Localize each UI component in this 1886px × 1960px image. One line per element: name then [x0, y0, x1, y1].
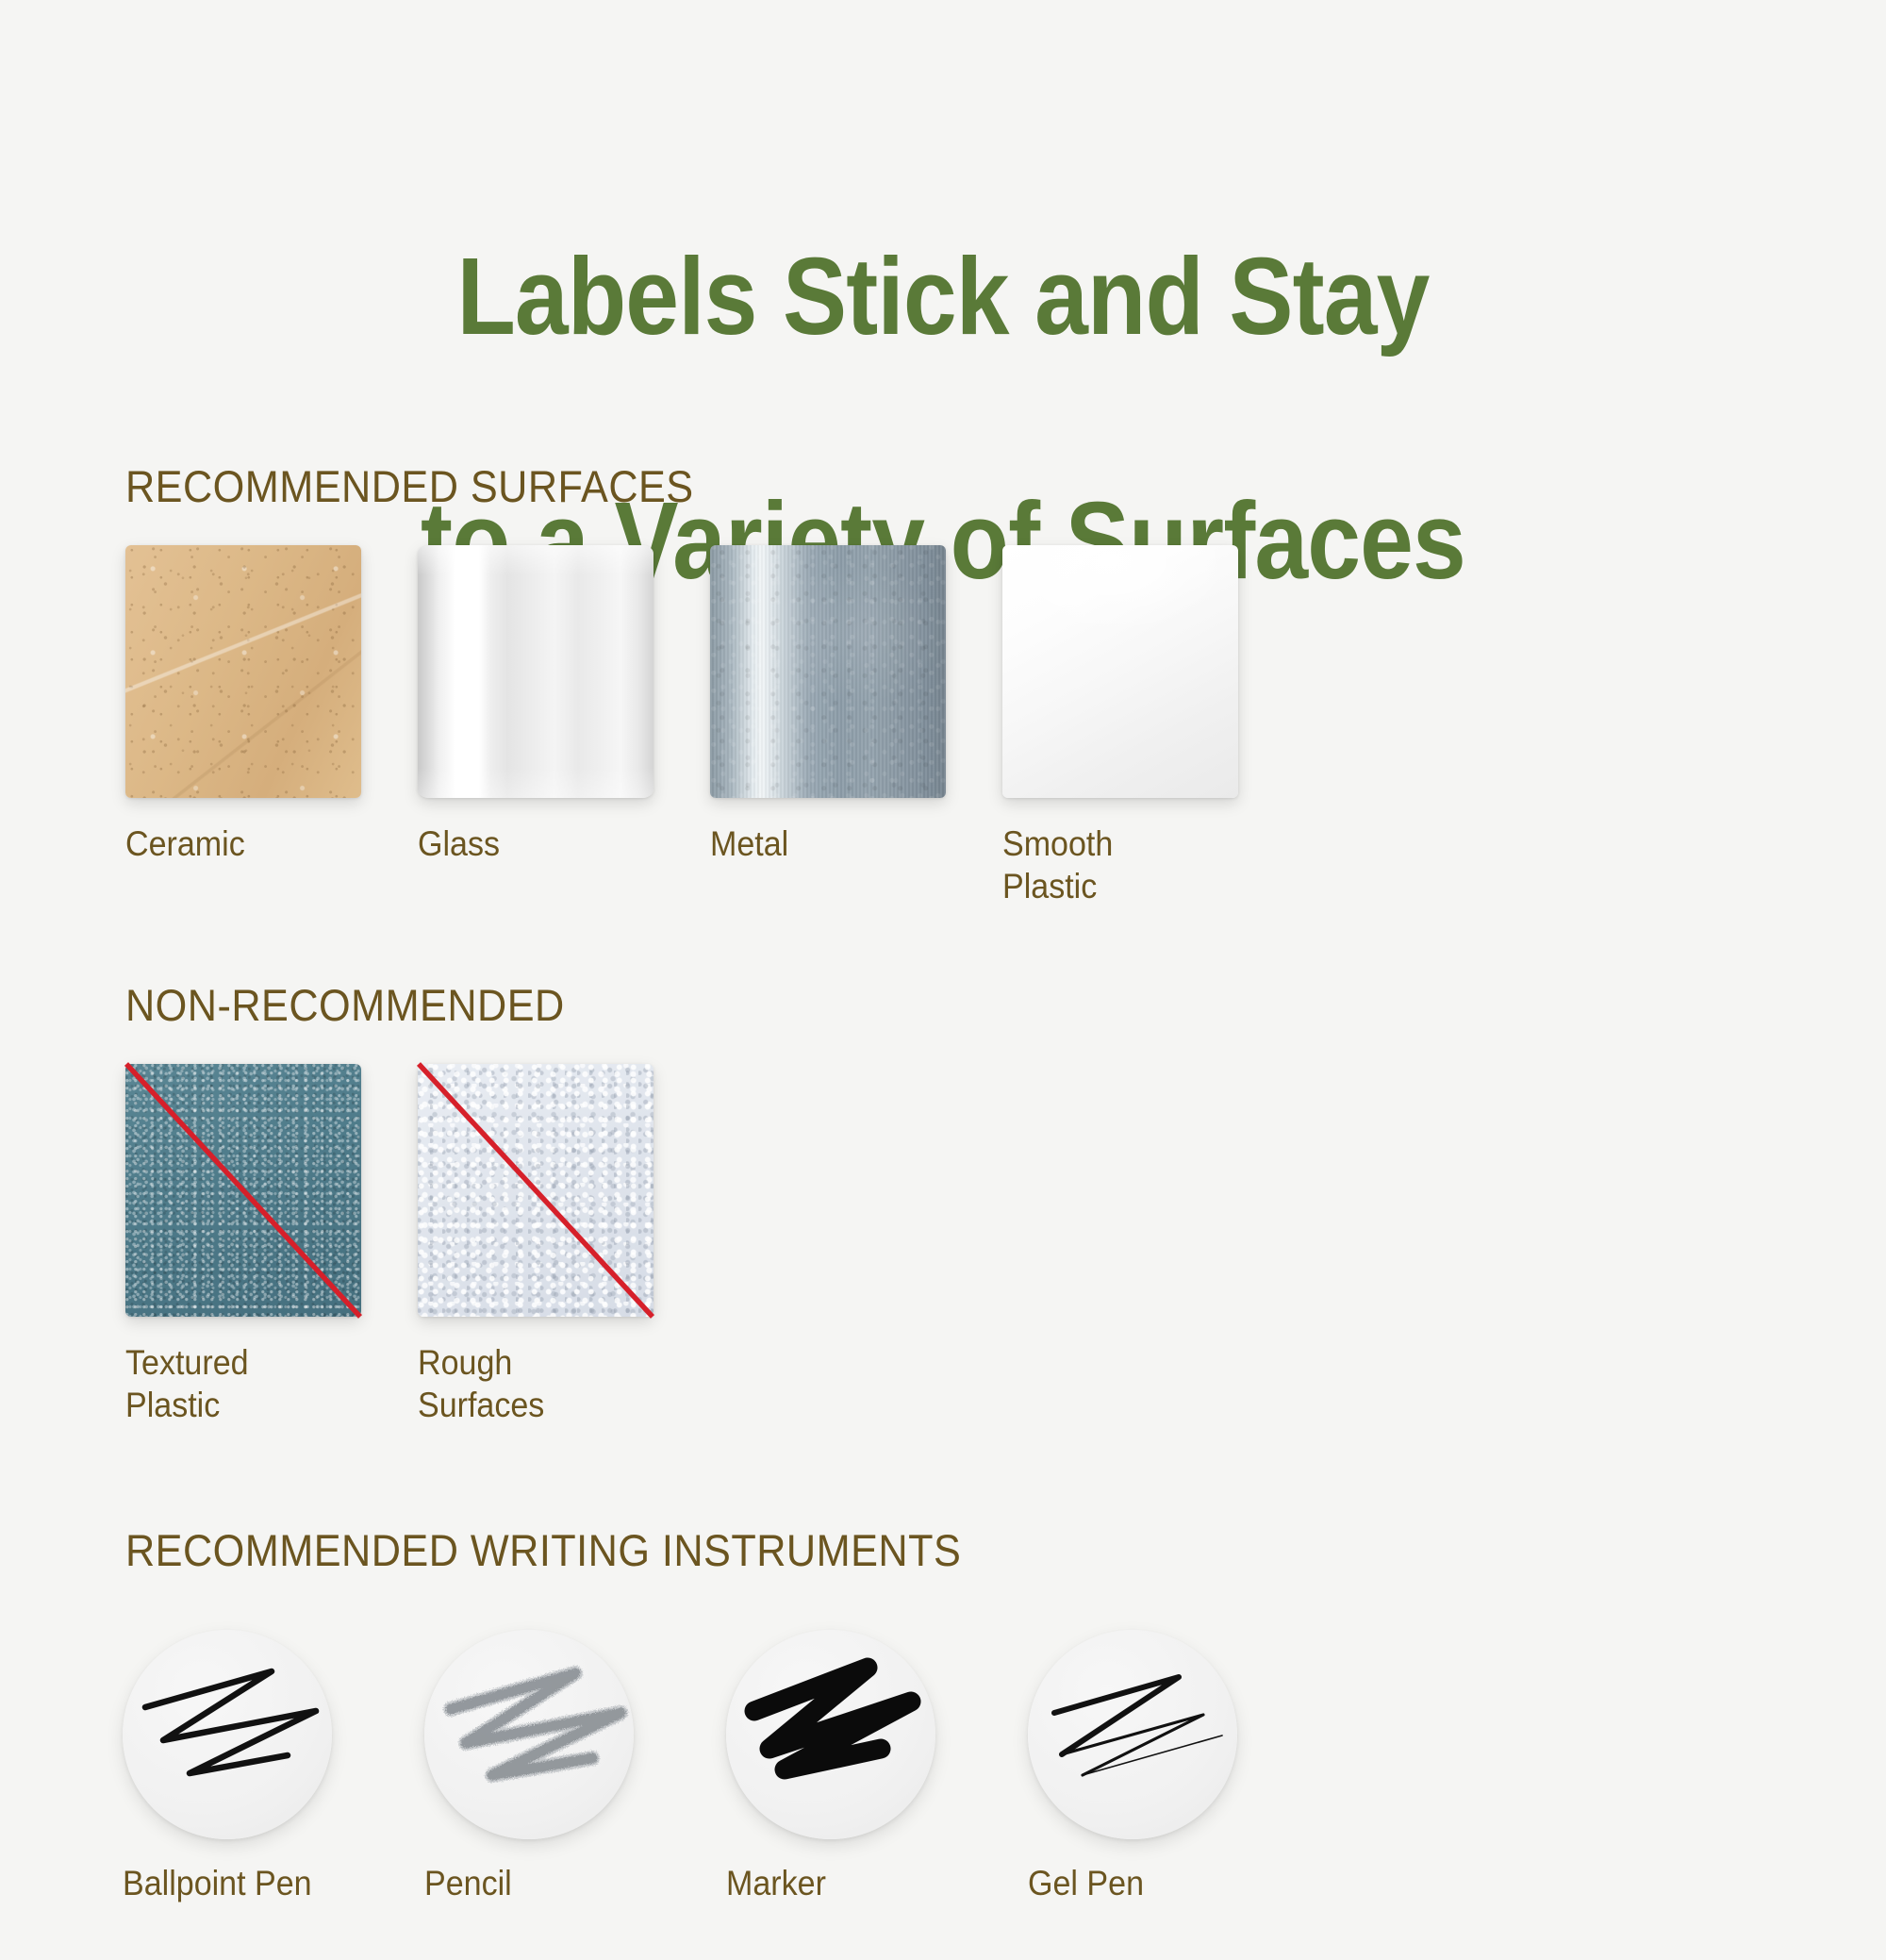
ceramic-swatch — [125, 545, 361, 798]
section-heading-recommended-surfaces: RECOMMENDED SURFACES — [125, 460, 694, 512]
section-heading-non-recommended: NON-RECOMMENDED — [125, 979, 565, 1031]
surface-item-ceramic: Ceramic — [125, 545, 418, 865]
gel-pen-swatch — [1028, 1630, 1237, 1839]
page-title-line-1: Labels Stick and Stay — [113, 236, 1773, 358]
ballpoint-scribble-icon — [123, 1630, 332, 1839]
writing-instrument-label-ballpoint-pen: Ballpoint Pen — [123, 1862, 400, 1904]
writing-instrument-gel-pen: Gel Pen — [1028, 1630, 1330, 1904]
surface-label-textured-plastic: Textured Plastic — [125, 1341, 394, 1426]
writing-instrument-pencil: Pencil — [424, 1630, 726, 1904]
writing-instrument-ballpoint-pen: Ballpoint Pen — [123, 1630, 424, 1904]
surface-item-glass: Glass — [418, 545, 710, 865]
surface-item-metal: Metal — [710, 545, 1002, 865]
surface-label-glass: Glass — [418, 822, 687, 865]
metal-swatch — [710, 545, 946, 798]
writing-instrument-marker: Marker — [726, 1630, 1028, 1904]
surface-item-smooth-plastic: Smooth Plastic — [1002, 545, 1295, 907]
marker-swatch — [726, 1630, 935, 1839]
surface-label-smooth-plastic: Smooth Plastic — [1002, 822, 1271, 907]
recommended-surfaces-row: Ceramic Glass Metal Smooth Plastic — [125, 545, 1295, 907]
section-heading-recommended-writing-instruments: RECOMMENDED WRITING INSTRUMENTS — [125, 1524, 961, 1576]
surface-label-rough-surfaces: Rough Surfaces — [418, 1341, 687, 1426]
surface-item-textured-plastic: Textured Plastic — [125, 1064, 418, 1426]
writing-instrument-label-gel-pen: Gel Pen — [1028, 1862, 1305, 1904]
surface-label-metal: Metal — [710, 822, 979, 865]
ballpoint-pen-swatch — [123, 1630, 332, 1839]
pencil-swatch — [424, 1630, 634, 1839]
infographic-page: Labels Stick and Stay to a Variety of Su… — [0, 74, 1886, 1960]
pencil-scribble-icon — [424, 1630, 634, 1839]
marker-scribble-icon — [726, 1630, 935, 1839]
writing-instrument-label-pencil: Pencil — [424, 1862, 702, 1904]
rough-surfaces-swatch — [418, 1064, 653, 1317]
non-recommended-row: Textured Plastic Rough Surfaces — [125, 1064, 710, 1426]
writing-instruments-row: Ballpoint Pen — [123, 1630, 1330, 1904]
writing-instrument-label-marker: Marker — [726, 1862, 1003, 1904]
gel-pen-scribble-icon — [1028, 1630, 1237, 1839]
smooth-plastic-swatch — [1002, 545, 1238, 798]
surface-item-rough-surfaces: Rough Surfaces — [418, 1064, 710, 1426]
textured-plastic-swatch — [125, 1064, 361, 1317]
surface-label-ceramic: Ceramic — [125, 822, 394, 865]
glass-swatch — [418, 545, 653, 798]
